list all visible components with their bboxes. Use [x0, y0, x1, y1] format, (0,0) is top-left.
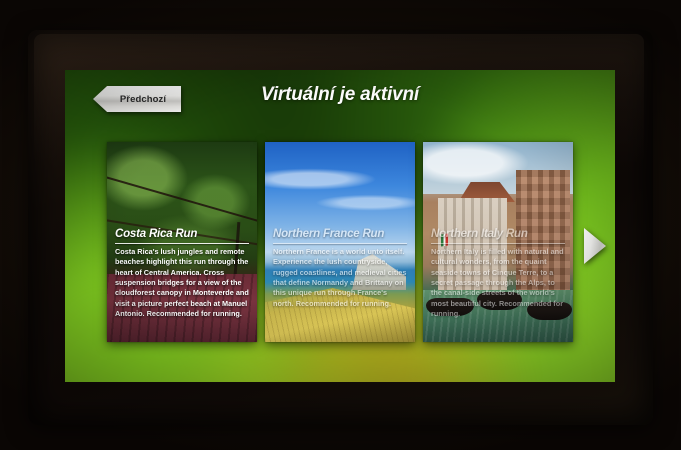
run-card-text: Northern France Run Northern France is a…	[273, 228, 407, 309]
run-card-northern-france[interactable]: Northern France Run Northern France is a…	[265, 142, 415, 342]
room-photo-background: Předchozí Virtuální je aktivní Costa Ric…	[0, 0, 681, 450]
title-divider	[431, 243, 565, 244]
run-card-costa-rica[interactable]: Costa Rica Run Costa Rica's lush jungles…	[107, 142, 257, 342]
run-card-description: Northern France is a world unto itself. …	[273, 247, 407, 309]
title-divider	[273, 243, 407, 244]
run-card-list: Costa Rica Run Costa Rica's lush jungles…	[65, 142, 615, 342]
run-card-title: Costa Rica Run	[115, 228, 249, 240]
run-card-text: Costa Rica Run Costa Rica's lush jungles…	[115, 228, 249, 320]
run-card-title: Northern Italy Run	[431, 228, 565, 240]
cloud-wisps	[265, 154, 415, 238]
run-card-northern-italy[interactable]: Northern Italy Run Northern Italy is fil…	[423, 142, 573, 342]
title-divider	[115, 243, 249, 244]
run-card-description: Northern Italy is filled with natural an…	[431, 247, 565, 320]
run-card-text: Northern Italy Run Northern Italy is fil…	[431, 228, 565, 320]
run-card-description: Costa Rica's lush jungles and remote bea…	[115, 247, 249, 320]
run-card-title: Northern France Run	[273, 228, 407, 240]
suspension-cable	[107, 174, 257, 225]
virtual-run-screen: Předchozí Virtuální je aktivní Costa Ric…	[65, 70, 615, 382]
page-title: Virtuální je aktivní	[65, 84, 615, 106]
